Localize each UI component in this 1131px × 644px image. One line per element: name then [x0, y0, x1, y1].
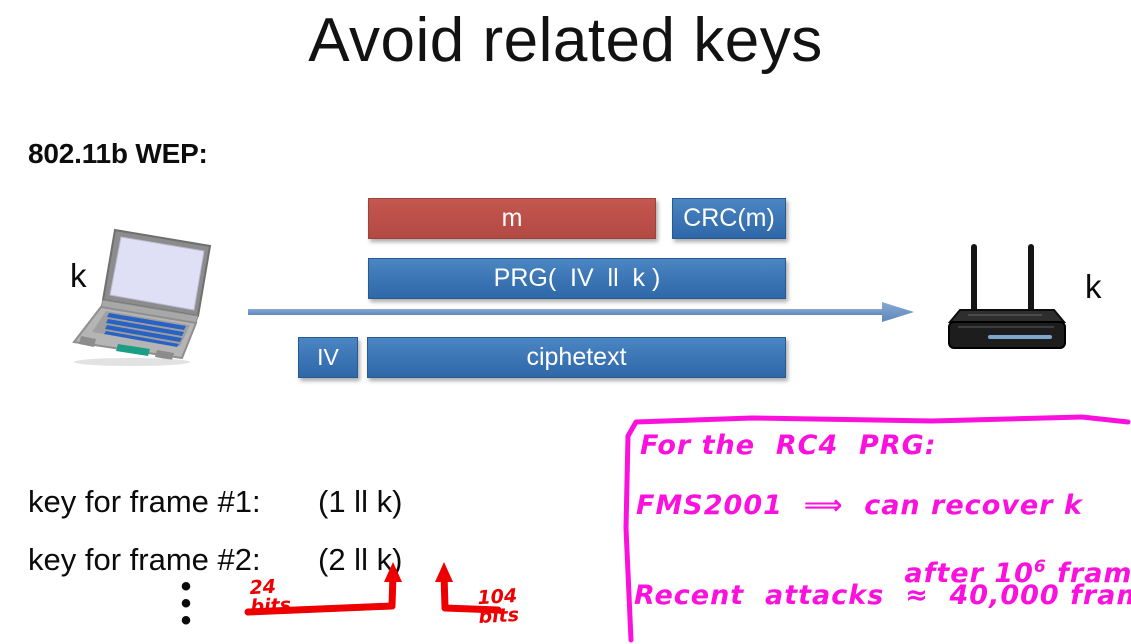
slide-canvas: Avoid related keys 802.11b WEP: [0, 0, 1131, 644]
section-label-wep: 802.11b WEP: [28, 138, 208, 170]
receiver-key-label: k [1085, 268, 1102, 306]
block-crc: CRC(m) [672, 198, 786, 239]
ellipsis-dot: • [177, 612, 195, 629]
pink-line-rc4-prg: For the RC4 PRG: [640, 430, 937, 461]
block-ciphertext: ciphetext [367, 337, 786, 378]
pink-line-recent-attacks: Recent attacks ≈ 40,000 frames [634, 580, 1131, 611]
wireless-router-icon [942, 236, 1090, 358]
block-iv: IV [298, 337, 358, 378]
sender-key-label: k [70, 257, 87, 295]
red-annotation-key-bits: 104 bits [477, 587, 519, 627]
page-title: Avoid related keys [0, 8, 1131, 73]
block-message: m [368, 198, 656, 239]
key-frame-1-value: (1 ll k) [318, 484, 402, 520]
pink-frames-exponent: 6 [1034, 557, 1047, 577]
key-frame-1-label: key for frame #1: [28, 484, 261, 520]
pink-line-fms2001: FMS2001 ⟹ can recover k [636, 490, 1083, 521]
red-annotation-iv-bits: 24 bits [249, 577, 291, 617]
vertical-ellipsis: • • • [177, 578, 195, 629]
pink-annotation-panel: For the RC4 PRG: FMS2001 ⟹ can recover k… [612, 408, 1131, 644]
block-prg: PRG( IV ll k ) [368, 258, 786, 299]
laptop-icon [62, 228, 222, 366]
transmission-arrow-icon [248, 300, 916, 326]
key-frame-2-label: key for frame #2: [28, 542, 261, 578]
